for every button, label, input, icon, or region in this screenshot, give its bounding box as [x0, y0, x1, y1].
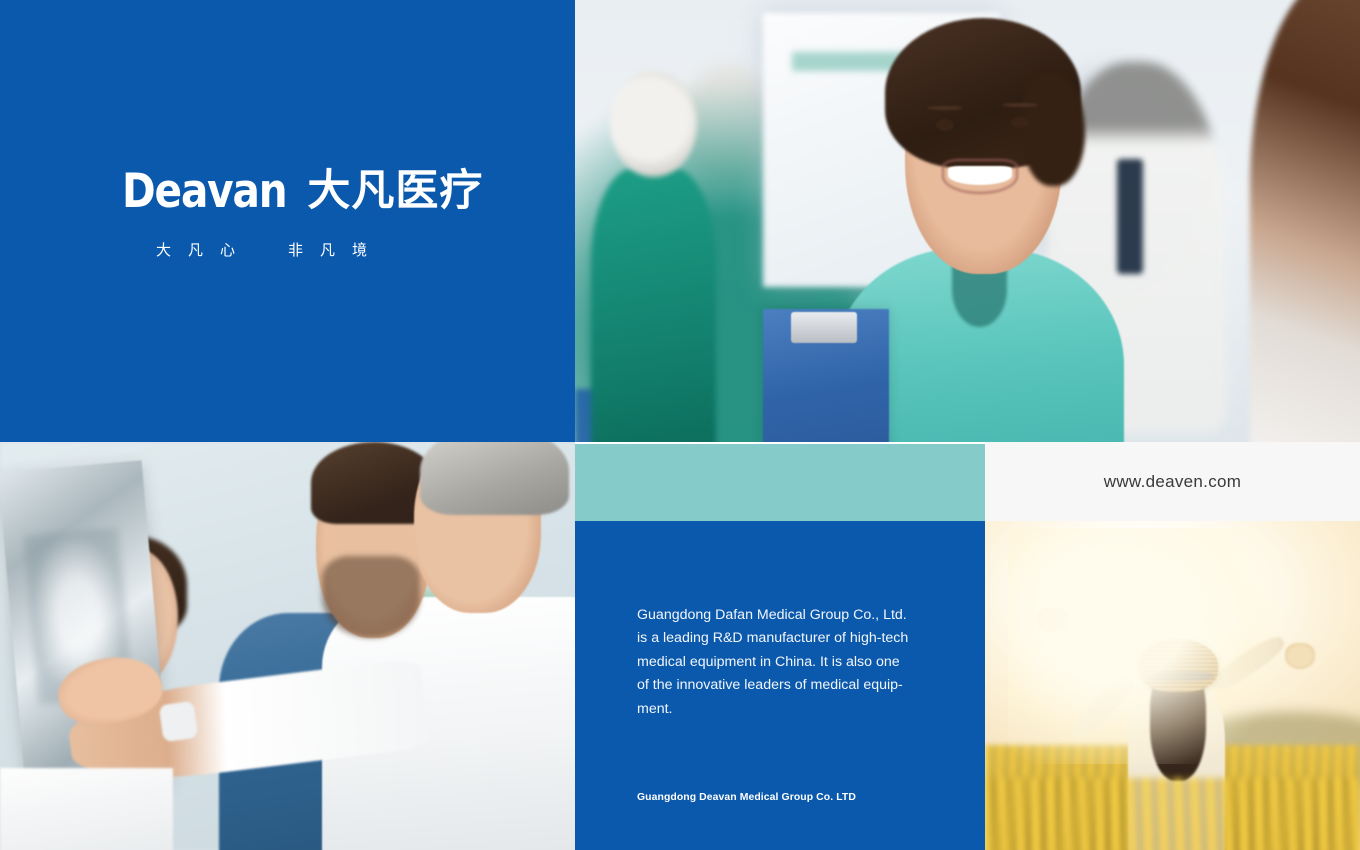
sunset-field-photo [985, 521, 1360, 850]
clinic-foreground-man [1250, 0, 1360, 442]
logo-wordmark-chinese: 大凡医疗 [307, 170, 483, 215]
brand-tagline-part1: 大凡心 [156, 239, 252, 260]
nurse-eye-right [1011, 117, 1029, 128]
nurse-eye-left [936, 119, 954, 130]
clipboard-metal-clip [791, 312, 857, 343]
clinic-green-scrub-person [591, 168, 717, 442]
clinic-grey-haired-person [610, 71, 696, 177]
description-line: is a leading R&D manufacturer of high-te… [637, 627, 927, 650]
description-line: medical equipment in China. It is also o… [637, 651, 927, 674]
field-foreground-flowers [985, 778, 1360, 850]
clinic-photo [575, 0, 1360, 442]
field-person-right-hand [1285, 643, 1315, 669]
nurse-eyebrow-right [1002, 103, 1038, 107]
clinic-doctor-tie [1117, 159, 1144, 274]
team-lower-white-coat [0, 768, 173, 850]
brand-panel: Deavan 大凡医疗 大凡心 非凡境 [0, 0, 575, 442]
website-panel: www.deaven.com [985, 442, 1360, 521]
brand-tagline: 大凡心 非凡境 [156, 239, 483, 260]
field-sun-glow [1008, 528, 1278, 765]
medical-team-photo [0, 442, 575, 850]
company-description-panel: Guangdong Dafan Medical Group Co., Ltd. … [575, 521, 985, 850]
brand-collage-page: Deavan 大凡医疗 大凡心 非凡境 [0, 0, 1360, 850]
team-doctor-wristwatch [159, 701, 198, 742]
team-man-beard [322, 556, 420, 638]
brand-tagline-part2: 非凡境 [288, 239, 384, 260]
logo-row: Deavan 大凡医疗 [122, 170, 483, 215]
logo-wordmark: Deavan [122, 170, 286, 215]
company-description-text: Guangdong Dafan Medical Group Co., Ltd. … [637, 604, 927, 721]
description-line: Guangdong Dafan Medical Group Co., Ltd. [637, 604, 927, 627]
company-legal-name: Guangdong Deavan Medical Group Co. LTD [637, 792, 856, 803]
team-doctor-grey-hair [420, 442, 570, 515]
teal-accent-band [575, 444, 985, 521]
description-line: ment. [637, 698, 927, 721]
description-line: of the innovative leaders of medical equ… [637, 674, 927, 697]
website-url[interactable]: www.deaven.com [1104, 472, 1241, 492]
logo-lockup: Deavan 大凡医疗 大凡心 非凡境 [122, 170, 483, 260]
